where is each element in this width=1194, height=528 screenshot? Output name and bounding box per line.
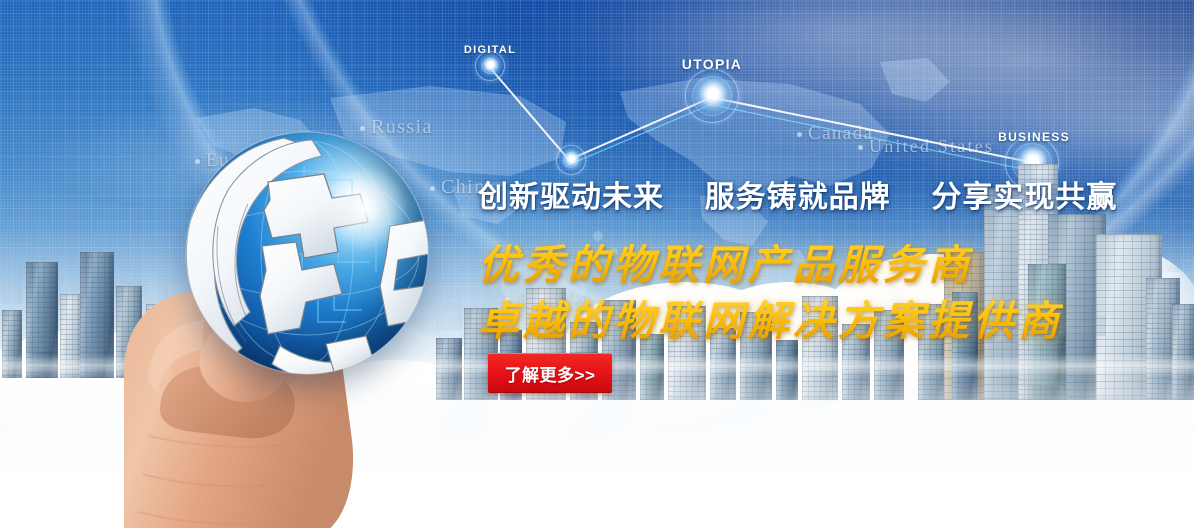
- learn-more-button[interactable]: 了解更多>>: [488, 353, 612, 393]
- tagline-line-1: 优秀的物联网产品服务商: [478, 231, 973, 291]
- network-node-utopia[interactable]: [685, 69, 739, 123]
- globe-puzzle-shell: [184, 130, 430, 376]
- headline-part-2: 服务铸就品牌: [705, 181, 891, 214]
- node-inner-ring-icon: [692, 76, 732, 116]
- network-node-label-utopia: UTOPIA: [682, 56, 742, 72]
- hero-banner: Russia Eu China Canada United States Aus…: [0, 0, 1194, 528]
- headline-part-3: 分享实现共赢: [931, 181, 1117, 214]
- globe-highlight: [322, 166, 408, 252]
- network-node-relay[interactable]: [556, 145, 586, 175]
- node-inner-ring-icon: [482, 58, 498, 74]
- network-node-label-digital: DIGITAL: [464, 44, 516, 56]
- tagline-line-2: 卓越的物联网解决方案提供商: [478, 287, 1063, 347]
- node-inner-ring-icon: [563, 152, 579, 168]
- banner-headline: 创新驱动未来 服务铸就品牌 分享实现共赢: [478, 172, 1117, 216]
- headline-part-1: 创新驱动未来: [478, 181, 664, 214]
- network-node-label-business: BUSINESS: [998, 130, 1070, 144]
- globe-graphic: [186, 132, 428, 374]
